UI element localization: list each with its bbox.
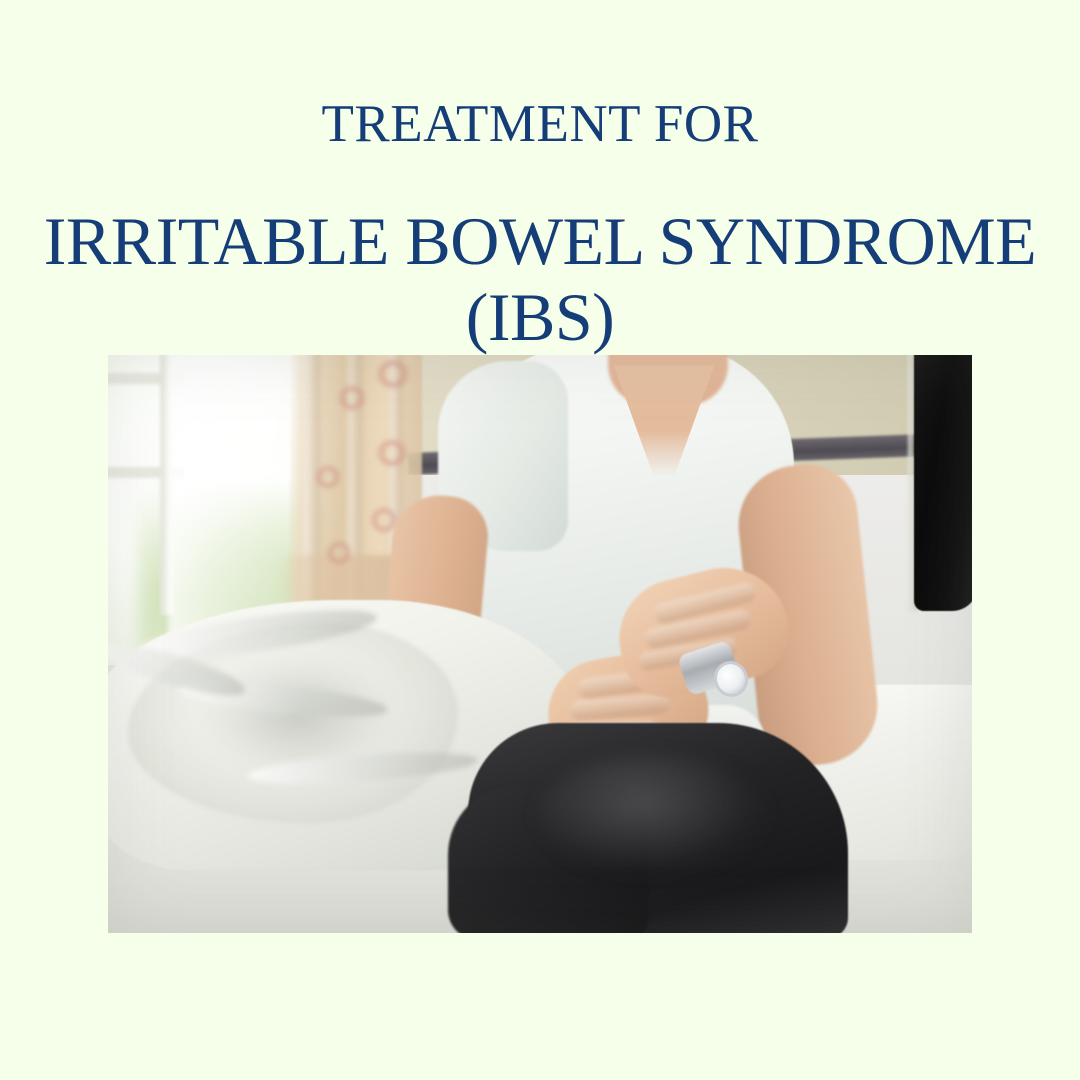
curtain-flower-3 [376,439,408,467]
curtain-flower-1 [376,359,410,389]
curtain-flower-4 [315,465,341,489]
black-hanging-cloth [914,355,972,611]
poster-canvas: TREATMENT FOR IRRITABLE BOWEL SYNDROME (… [0,0,1080,1080]
curtain-flower-2 [338,385,366,411]
page-title-line-1: TREATMENT FOR [0,95,1080,153]
curtain-flower-6 [326,541,352,565]
hero-photo [108,355,972,933]
photo-scene [108,355,972,933]
dark-jeans-highlight [538,755,768,875]
page-title-line-2: IRRITABLE BOWEL SYNDROME (IBS) [0,203,1080,355]
